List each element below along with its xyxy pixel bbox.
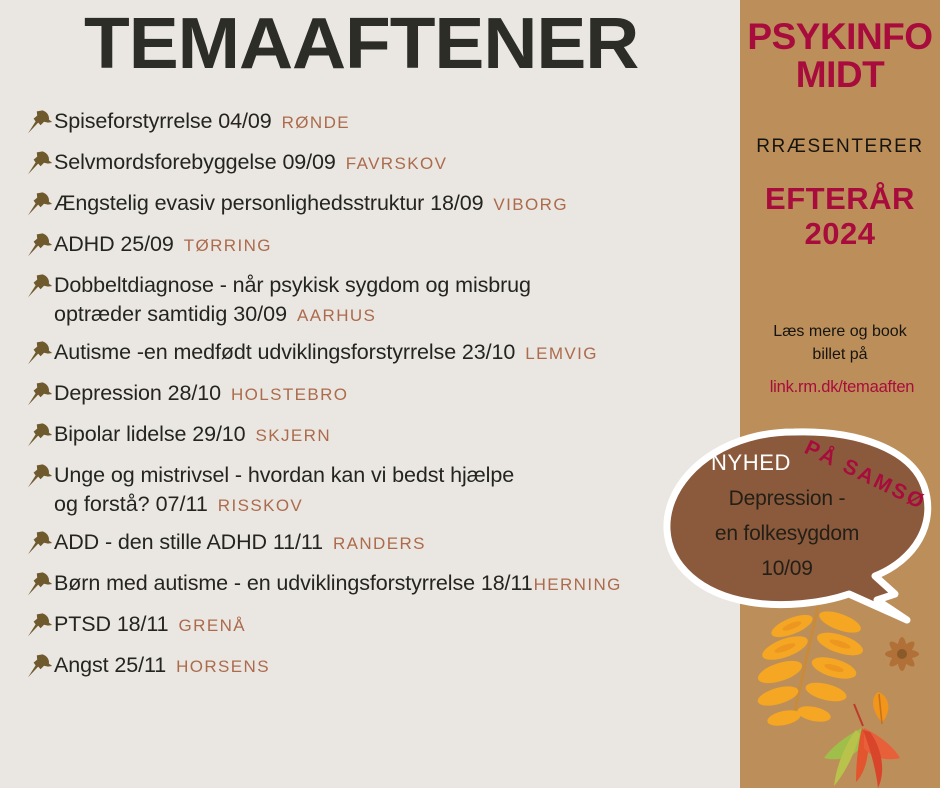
event-title-text: Autisme -en medfødt udviklingsforstyrrel… [54,340,515,364]
event-body: Børn med autisme - en udviklingsforstyrr… [54,568,622,600]
event-body: Ængstelig evasiv personlighedsstruktur 1… [54,188,568,220]
event-body: Depression 28/10HOLSTEBRO [54,378,348,410]
event-city: HORSENS [176,657,270,676]
event-body: Dobbeltdiagnose - når psykisk sygdom og … [54,270,531,330]
season-title: EFTERÅR 2024 [740,182,940,251]
pushpin-icon [24,271,54,301]
event-body: Spiseforstyrrelse 04/09RØNDE [54,106,350,138]
event-row[interactable]: Depression 28/10HOLSTEBRO [24,378,740,410]
event-title: ADD - den stille ADHD 11/11RANDERS [54,527,426,559]
event-row[interactable]: Bipolar lidelse 29/10SKJERN [24,419,740,451]
pushpin-icon [24,189,54,219]
event-body: ADHD 25/09TØRRING [54,229,272,261]
pushpin-icon [24,107,54,137]
event-row[interactable]: ADD - den stille ADHD 11/11RANDERS [24,527,740,559]
event-title: Depression 28/10HOLSTEBRO [54,378,348,410]
event-title-text: ADD - den stille ADHD 11/11 [54,530,323,554]
event-row[interactable]: Autisme -en medfødt udviklingsforstyrrel… [24,337,740,369]
event-title: Unge og mistrivsel - hvordan kan vi beds… [54,460,514,490]
pushpin-icon [24,107,54,137]
pushpin-icon [24,461,54,491]
pushpin-icon [24,528,54,558]
event-row[interactable]: Angst 25/11HORSENS [24,650,740,682]
event-city: GRENÅ [179,616,246,635]
event-city: FAVRSKOV [346,154,448,173]
pushpin-icon [24,148,54,178]
maple-leaf-icon [824,704,900,788]
season-line-2: 2024 [740,217,940,252]
booking-line-2: billet på [740,343,940,366]
event-city: SKJERN [256,426,331,445]
event-city: RANDERS [333,534,426,553]
event-city: LEMVIG [525,344,598,363]
pushpin-icon [24,651,54,681]
event-title-text: ADHD 25/09 [54,232,174,256]
brand-title: PSYKINFO MIDT [740,18,940,94]
event-list: Spiseforstyrrelse 04/09RØNDESelvmordsfor… [24,106,740,691]
event-title-text: Børn med autisme - en udviklingsforstyrr… [54,571,533,595]
event-city: VIBORG [493,195,568,214]
page-title: TEMAAFTENER [84,8,729,80]
autumn-leaves-decoration [740,596,940,788]
pushpin-icon [24,610,54,640]
pushpin-icon [24,379,54,409]
pushpin-icon [24,528,54,558]
event-title: Bipolar lidelse 29/10SKJERN [54,419,331,451]
compound-leaf-icon [755,606,865,728]
event-city: TØRRING [184,236,272,255]
event-body: Selvmordsforebyggelse 09/09FAVRSKOV [54,147,447,179]
event-title-text: Selvmordsforebyggelse 09/09 [54,150,336,174]
event-row[interactable]: Spiseforstyrrelse 04/09RØNDE [24,106,740,138]
season-line-1: EFTERÅR [740,182,940,217]
pushpin-icon [24,569,54,599]
event-row[interactable]: Børn med autisme - en udviklingsforstyrr… [24,568,740,600]
news-badge: NYHED [711,450,791,476]
presents-label: RRÆSENTERER [740,136,940,158]
pushpin-icon [24,230,54,260]
pushpin-icon [24,189,54,219]
event-body: Unge og mistrivsel - hvordan kan vi beds… [54,460,514,520]
event-city: RISSKOV [218,496,303,515]
brand-line-1: PSYKINFO [740,18,940,56]
pushpin-icon [24,610,54,640]
pushpin-icon [24,271,54,301]
event-title: Spiseforstyrrelse 04/09RØNDE [54,106,350,138]
bubble-line-3: 10/09 [668,557,906,581]
event-title-text: Dobbeltdiagnose - når psykisk sygdom og … [54,273,531,297]
event-row[interactable]: Unge og mistrivsel - hvordan kan vi beds… [24,460,740,520]
star-anise-icon [885,637,919,671]
booking-link[interactable]: link.rm.dk/temaaften [740,378,940,397]
event-title: Angst 25/11HORSENS [54,650,270,682]
pushpin-icon [24,420,54,450]
brand-line-2: MIDT [740,56,940,94]
event-title: ADHD 25/09TØRRING [54,229,272,261]
event-body: Autisme -en medfødt udviklingsforstyrrel… [54,337,598,369]
poster-canvas: PSYKINFO MIDT RRÆSENTERER EFTERÅR 2024 L… [0,0,940,788]
pushpin-icon [24,651,54,681]
event-title-text: Bipolar lidelse 29/10 [54,422,246,446]
event-title: Ængstelig evasiv personlighedsstruktur 1… [54,188,568,220]
pushpin-icon [24,148,54,178]
event-city: AARHUS [297,306,376,325]
event-body: PTSD 18/11GRENÅ [54,609,246,641]
event-row[interactable]: PTSD 18/11GRENÅ [24,609,740,641]
event-city: HOLSTEBRO [231,385,348,404]
event-title-text: PTSD 18/11 [54,612,169,636]
booking-line-1: Læs mere og book [740,320,940,343]
event-row[interactable]: Selvmordsforebyggelse 09/09FAVRSKOV [24,147,740,179]
event-row[interactable]: ADHD 25/09TØRRING [24,229,740,261]
pushpin-icon [24,461,54,491]
event-row[interactable]: Dobbeltdiagnose - når psykisk sygdom og … [24,270,740,330]
event-city: HERNING [534,575,622,594]
pushpin-icon [24,569,54,599]
booking-instruction: Læs mere og book billet på [740,320,940,366]
pushpin-icon [24,338,54,368]
pushpin-icon [24,338,54,368]
event-title: Autisme -en medfødt udviklingsforstyrrel… [54,337,598,369]
event-body: Bipolar lidelse 29/10SKJERN [54,419,331,451]
event-body: ADD - den stille ADHD 11/11RANDERS [54,527,426,559]
event-city: RØNDE [282,113,350,132]
event-title: PTSD 18/11GRENÅ [54,609,246,641]
small-orange-leaf-icon [873,692,888,724]
event-title-text: Unge og mistrivsel - hvordan kan vi beds… [54,463,514,487]
event-title-line-2: optræder samtidig 30/09AARHUS [54,300,531,330]
pushpin-icon [24,379,54,409]
event-body: Angst 25/11HORSENS [54,650,270,682]
event-title-line-2: og forstå? 07/11RISSKOV [54,490,514,520]
pushpin-icon [24,230,54,260]
event-row[interactable]: Ængstelig evasiv personlighedsstruktur 1… [24,188,740,220]
event-title: Børn med autisme - en udviklingsforstyrr… [54,568,622,600]
event-title: Selvmordsforebyggelse 09/09FAVRSKOV [54,147,447,179]
event-title-text: Ængstelig evasiv personlighedsstruktur 1… [54,191,483,215]
pushpin-icon [24,420,54,450]
event-title-text: Depression 28/10 [54,381,221,405]
event-title-text: Spiseforstyrrelse 04/09 [54,109,272,133]
event-title-text: Angst 25/11 [54,653,166,677]
event-title: Dobbeltdiagnose - når psykisk sygdom og … [54,270,531,300]
bubble-line-2: en folkesygdom [668,522,906,546]
